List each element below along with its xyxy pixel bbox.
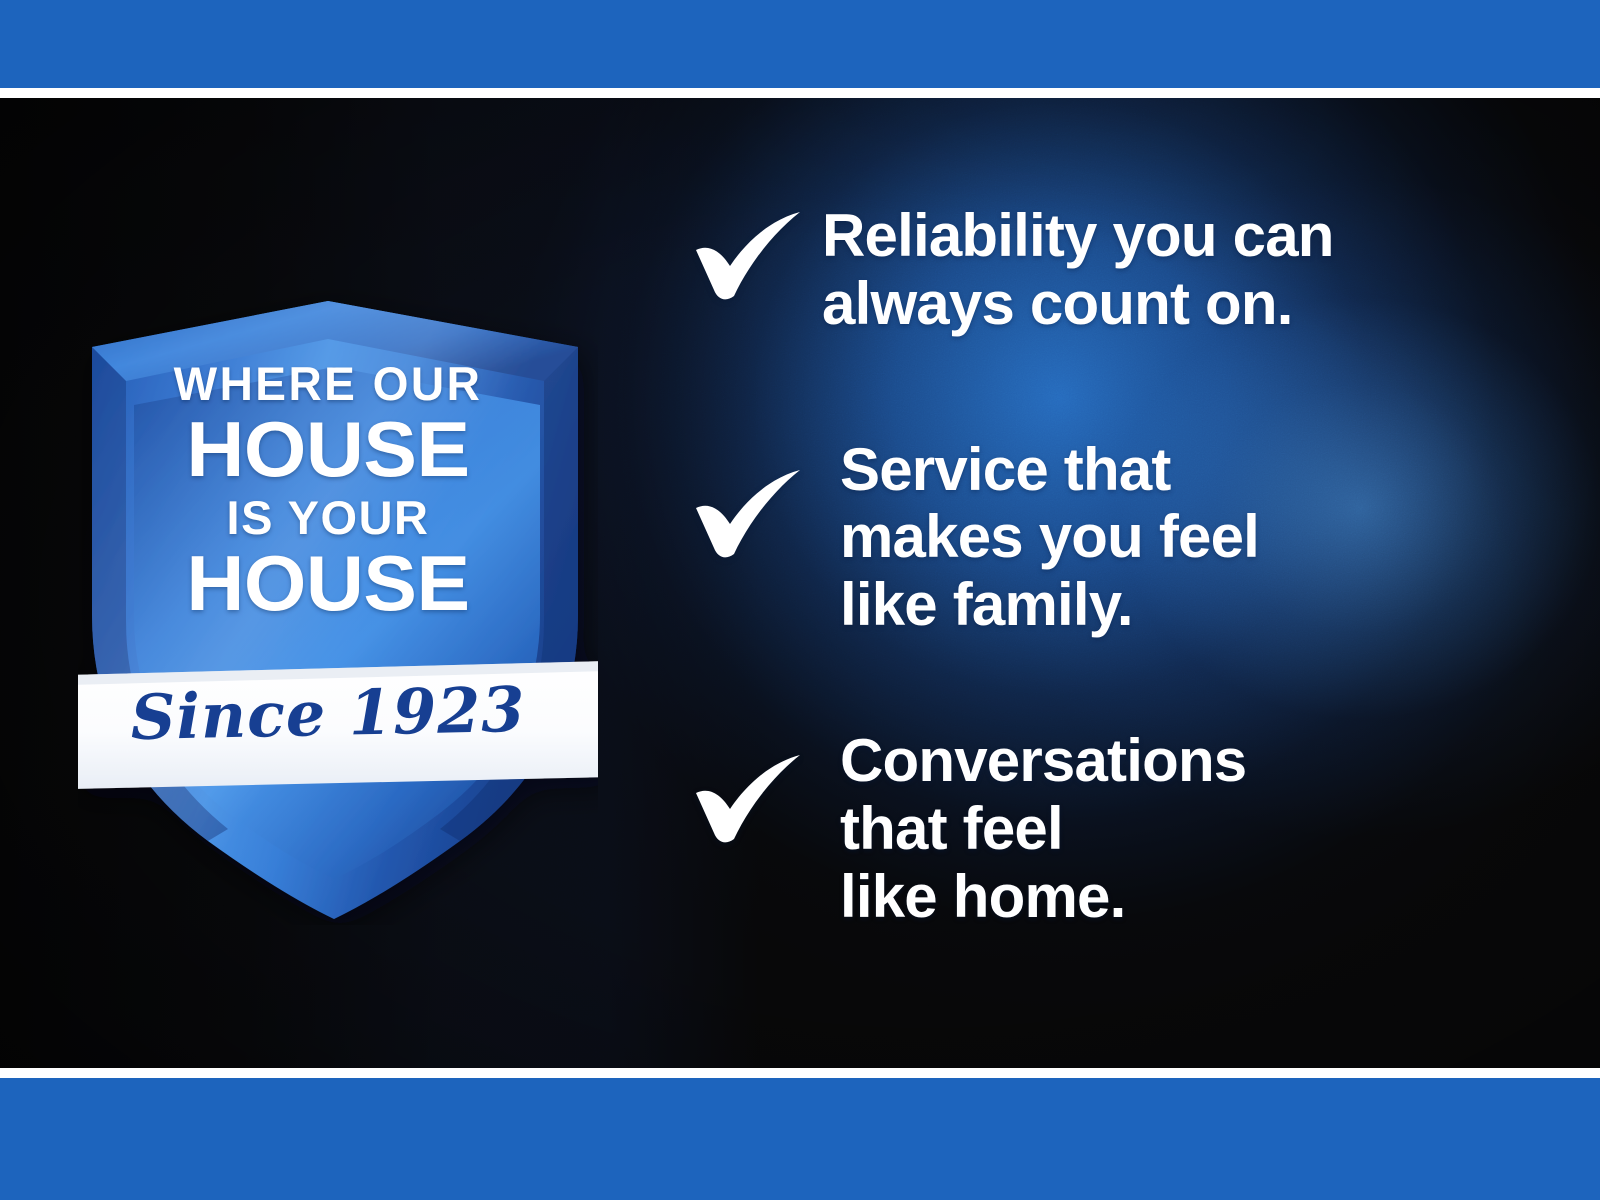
bottom-white-divider bbox=[0, 1068, 1600, 1078]
since-1923-shield-badge: WHERE OUR HOUSE IS YOUR HOUSE Since 1923 bbox=[78, 285, 598, 925]
checkmark-icon bbox=[690, 200, 822, 306]
benefit-text: Reliability you can always count on. bbox=[822, 200, 1334, 338]
checkmark-icon bbox=[690, 725, 822, 849]
benefit-line: Conversations bbox=[840, 727, 1246, 795]
benefit-line: Reliability you can bbox=[822, 202, 1334, 270]
benefit-item: Service that makes you feel like family. bbox=[690, 434, 1520, 639]
benefit-item: Reliability you can always count on. bbox=[690, 200, 1520, 338]
checkmark-icon bbox=[690, 434, 822, 564]
benefit-line: like home. bbox=[840, 863, 1246, 931]
shield-graphic bbox=[78, 285, 598, 925]
bottom-brand-bar bbox=[0, 1078, 1600, 1200]
benefit-line: that feel bbox=[840, 795, 1246, 863]
benefit-line: always count on. bbox=[822, 270, 1334, 338]
benefit-text: Conversations that feel like home. bbox=[822, 725, 1246, 930]
benefit-item: Conversations that feel like home. bbox=[690, 725, 1520, 930]
top-brand-bar bbox=[0, 0, 1600, 88]
top-white-divider bbox=[0, 88, 1600, 98]
benefits-list: Reliability you can always count on. Ser… bbox=[690, 200, 1520, 930]
benefit-line: makes you feel bbox=[840, 503, 1259, 571]
benefit-line: like family. bbox=[840, 571, 1259, 639]
promo-graphic-canvas: WHERE OUR HOUSE IS YOUR HOUSE Since 1923… bbox=[0, 0, 1600, 1200]
benefit-text: Service that makes you feel like family. bbox=[822, 434, 1259, 639]
benefit-line: Service that bbox=[840, 436, 1259, 504]
